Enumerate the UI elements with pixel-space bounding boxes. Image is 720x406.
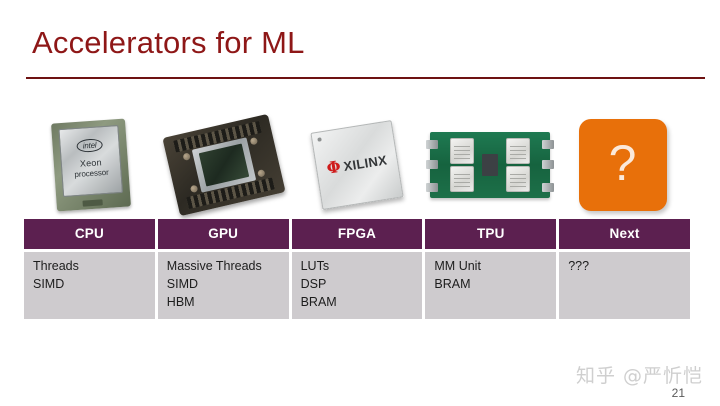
cell-line: BRAM <box>434 276 556 294</box>
fpga-pin1-marker <box>317 137 322 142</box>
tpu-port <box>426 160 438 169</box>
accelerator-image-strip: intel Xeon processor Φ XILI <box>24 112 690 217</box>
next-unknown-block: ? <box>579 119 667 211</box>
tpu-port <box>542 183 554 192</box>
tpu-port <box>542 140 554 149</box>
tpu-heatsink <box>506 138 530 164</box>
column-header-fpga: FPGA <box>292 219 423 249</box>
gpu-screw <box>189 184 197 192</box>
table-row: Threads SIMD Massive Threads SIMD HBM LU… <box>24 252 690 319</box>
tpu-heatsink <box>506 166 530 192</box>
gpu-screw <box>182 152 190 160</box>
cell-line: BRAM <box>301 294 423 312</box>
tpu-port <box>426 183 438 192</box>
cell-tpu: MM Unit BRAM <box>425 252 556 319</box>
column-header-next: Next <box>559 219 690 249</box>
tpu-center-chip <box>482 154 498 176</box>
tpu-port <box>426 140 438 149</box>
gpu-screw <box>257 169 265 177</box>
gpu-die <box>198 143 249 186</box>
column-header-tpu: TPU <box>425 219 556 249</box>
cell-cpu: Threads SIMD <box>24 252 155 319</box>
column-header-gpu: GPU <box>158 219 289 249</box>
cell-line: SIMD <box>167 276 289 294</box>
cell-fpga: LUTs DSP BRAM <box>292 252 423 319</box>
next-image: ? <box>556 112 689 217</box>
cell-line: Massive Threads <box>167 258 289 276</box>
tpu-heatsink <box>450 138 474 164</box>
table-header-row: CPU GPU FPGA TPU Next <box>24 219 690 249</box>
column-header-cpu: CPU <box>24 219 155 249</box>
cell-next: ??? <box>559 252 690 319</box>
title-divider <box>26 77 705 79</box>
tpu-image <box>423 112 556 217</box>
xilinx-logo-icon: Φ <box>325 158 341 176</box>
gpu-screw <box>249 136 257 144</box>
fpga-image: Φ XILINX <box>290 112 423 217</box>
cell-gpu: Massive Threads SIMD HBM <box>158 252 289 319</box>
intel-logo: intel <box>76 138 103 153</box>
cell-line: DSP <box>301 276 423 294</box>
page-number: 21 <box>672 386 685 400</box>
cell-line: LUTs <box>301 258 423 276</box>
cell-line: MM Unit <box>434 258 556 276</box>
cell-line: Threads <box>33 258 155 276</box>
question-mark-icon: ? <box>609 138 637 188</box>
watermark: 知乎 @严忻恺 <box>576 361 703 388</box>
tpu-port <box>542 160 554 169</box>
cpu-notch <box>82 199 102 206</box>
page-title: Accelerators for ML <box>32 25 305 61</box>
cell-line: ??? <box>568 258 690 276</box>
gpu-image <box>157 112 290 217</box>
cpu-image: intel Xeon processor <box>24 112 157 217</box>
cell-line: SIMD <box>33 276 155 294</box>
cell-line: HBM <box>167 294 289 312</box>
tpu-heatsink <box>450 166 474 192</box>
accelerator-comparison-table: CPU GPU FPGA TPU Next Threads SIMD Massi… <box>24 219 690 319</box>
